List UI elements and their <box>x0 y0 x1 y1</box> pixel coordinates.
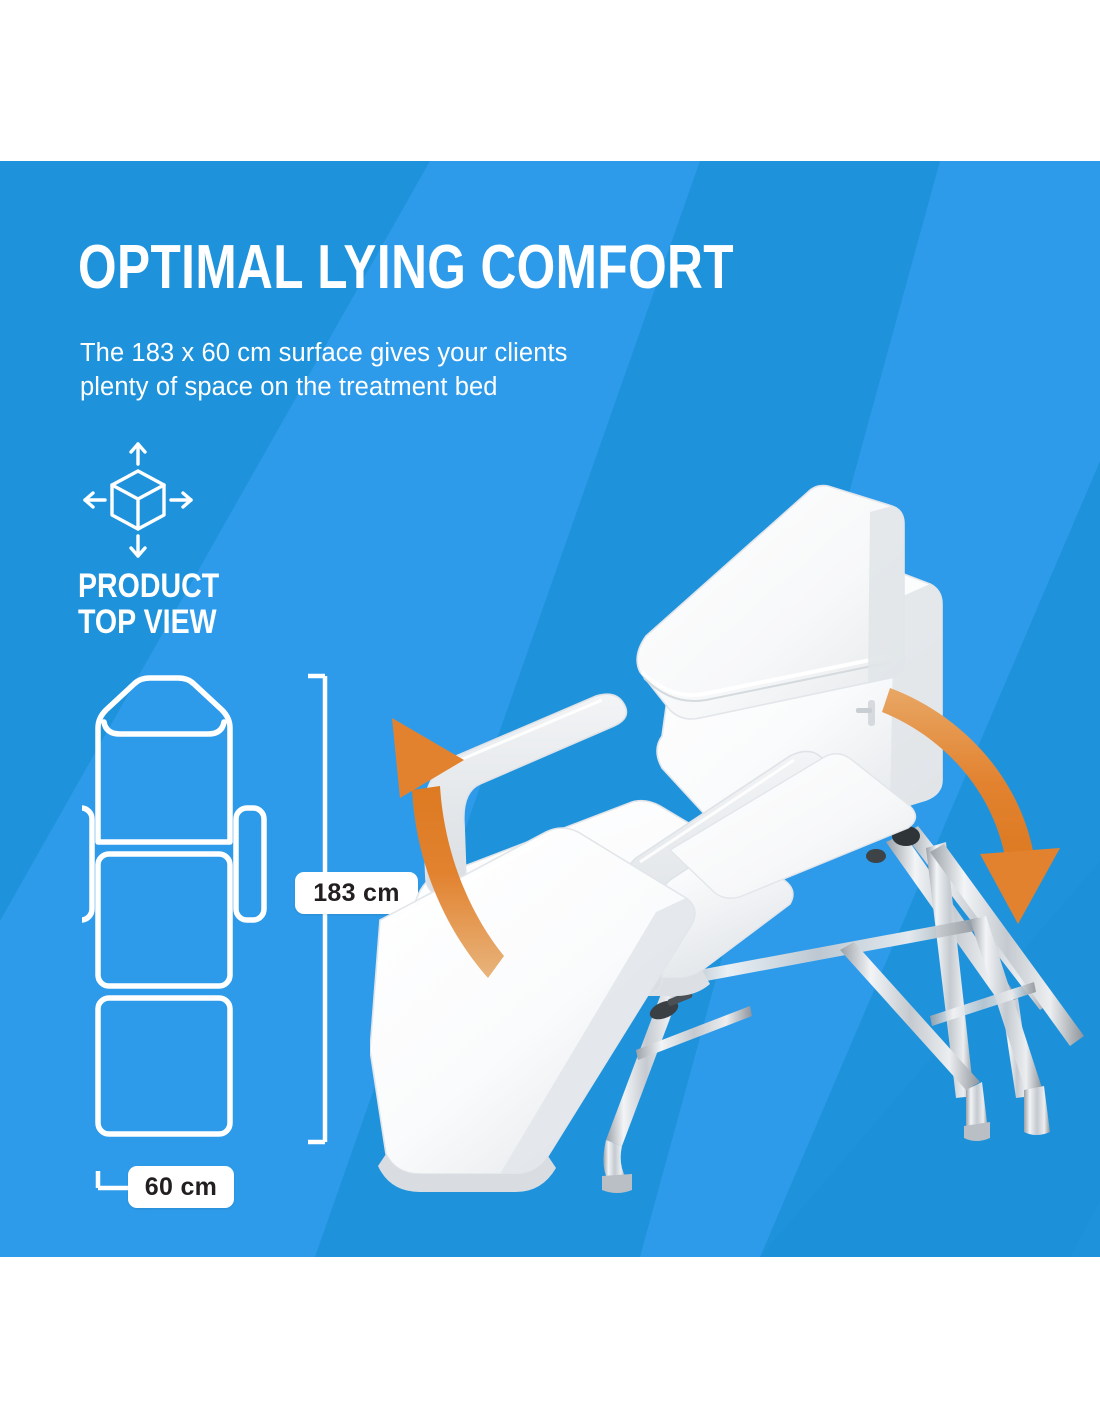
schematic-headrest-crease <box>104 722 224 734</box>
topview-line-1: PRODUCT <box>78 568 219 604</box>
white-treatment-bed-chair <box>370 450 1090 1250</box>
schematic-armrest-left <box>82 808 92 920</box>
headrest-pad <box>637 486 904 719</box>
schematic-head-section <box>98 678 230 842</box>
subtitle-line-2: plenty of space on the treatment bed <box>80 370 680 404</box>
infographic-page: OPTIMAL LYING COMFORT The 183 x 60 cm su… <box>0 0 1100 1422</box>
schematic-seat-section <box>98 854 230 986</box>
cube-dimensions-icon <box>72 440 204 560</box>
width-dimension-badge: 60 cm <box>128 1166 234 1208</box>
subtitle-line-1: The 183 x 60 cm surface gives your clien… <box>80 336 680 370</box>
product-top-view-label: PRODUCT TOP VIEW <box>78 568 219 640</box>
page-title: OPTIMAL LYING COMFORT <box>78 237 734 299</box>
leg-rest <box>370 828 695 1192</box>
schematic-legrest-section <box>98 998 230 1134</box>
schematic-armrest-right <box>236 808 264 920</box>
page-subtitle: The 183 x 60 cm surface gives your clien… <box>80 336 680 404</box>
topview-line-2: TOP VIEW <box>78 604 219 640</box>
